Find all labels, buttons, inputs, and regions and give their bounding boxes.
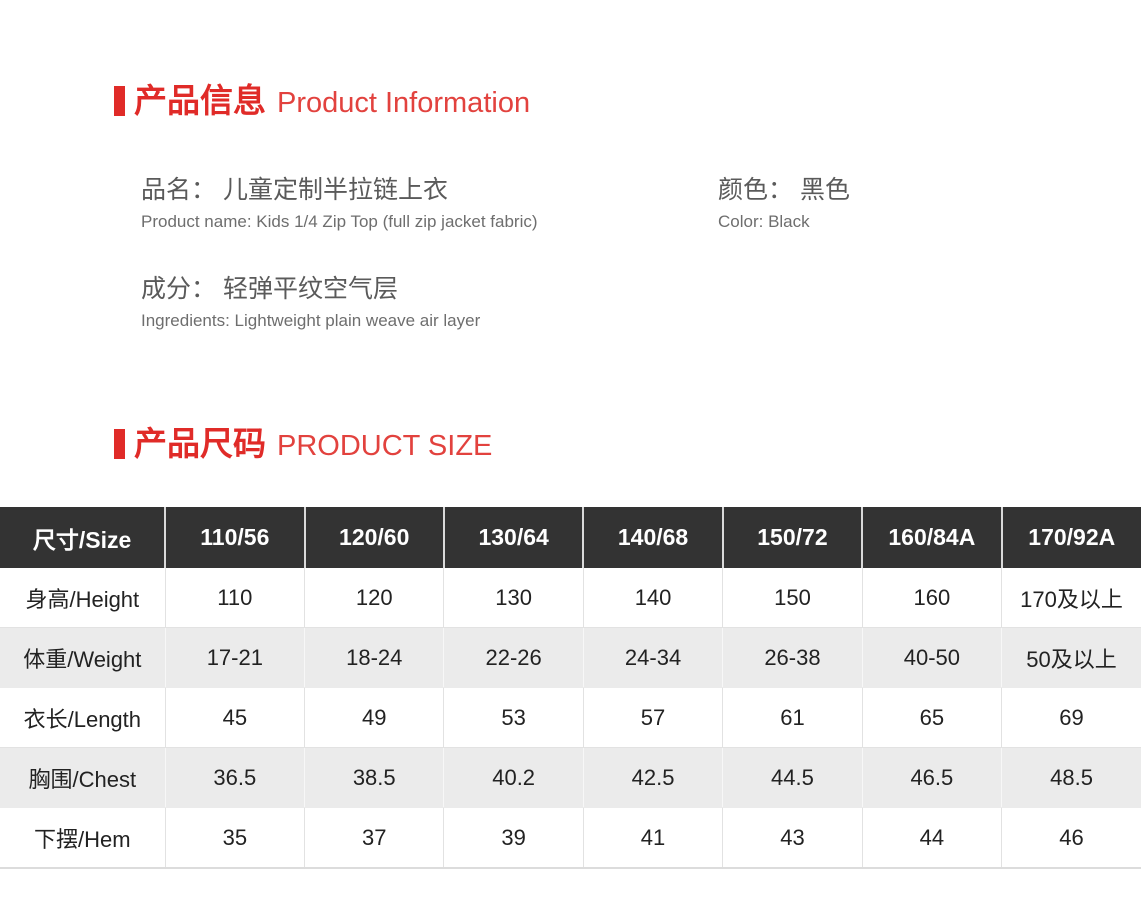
size-column-header: 170/92A bbox=[1002, 507, 1141, 568]
table-cell: 41 bbox=[583, 808, 722, 869]
table-cell: 48.5 bbox=[1002, 748, 1141, 808]
row-label: 体重/Weight bbox=[0, 628, 165, 688]
table-cell: 120 bbox=[305, 568, 444, 628]
table-cell: 160 bbox=[862, 568, 1001, 628]
table-cell: 65 bbox=[862, 688, 1001, 748]
size-column-header: 110/56 bbox=[165, 507, 304, 568]
size-table-container: 尺寸/Size 110/56120/60130/64140/68150/7216… bbox=[0, 507, 1141, 869]
table-cell: 150 bbox=[723, 568, 862, 628]
section-title-en: PRODUCT SIZE bbox=[277, 432, 492, 461]
table-cell: 45 bbox=[165, 688, 304, 748]
table-row: 衣长/Length45495357616569 bbox=[0, 688, 1141, 748]
table-cell: 43 bbox=[723, 808, 862, 869]
ingredients-en: Ingredients: Lightweight plain weave air… bbox=[141, 311, 480, 331]
table-cell: 50及以上 bbox=[1002, 628, 1141, 688]
size-column-header: 160/84A bbox=[862, 507, 1001, 568]
row-label: 下摆/Hem bbox=[0, 808, 165, 869]
table-cell: 44.5 bbox=[723, 748, 862, 808]
section-title-cn: 产品信息 bbox=[134, 84, 266, 117]
red-accent-bar-icon bbox=[114, 429, 125, 459]
product-name-cn: 品名： 儿童定制半拉链上衣 bbox=[141, 176, 538, 206]
table-cell: 61 bbox=[723, 688, 862, 748]
table-cell: 38.5 bbox=[305, 748, 444, 808]
table-cell: 40.2 bbox=[444, 748, 583, 808]
table-cell: 18-24 bbox=[305, 628, 444, 688]
table-cell: 22-26 bbox=[444, 628, 583, 688]
table-corner-label: 尺寸/Size bbox=[0, 507, 165, 568]
table-cell: 57 bbox=[583, 688, 722, 748]
table-cell: 24-34 bbox=[583, 628, 722, 688]
table-cell: 46.5 bbox=[862, 748, 1001, 808]
table-cell: 42.5 bbox=[583, 748, 722, 808]
section-title-en: Product Information bbox=[277, 89, 530, 118]
section-heading-product-size: 产品尺码 PRODUCT SIZE bbox=[114, 425, 492, 461]
table-cell: 35 bbox=[165, 808, 304, 869]
color-cn: 颜色： 黑色 bbox=[718, 176, 850, 206]
table-row: 下摆/Hem35373941434446 bbox=[0, 808, 1141, 869]
table-cell: 110 bbox=[165, 568, 304, 628]
section-heading-product-information: 产品信息 Product Information bbox=[114, 82, 530, 118]
info-block-product-name: 品名： 儿童定制半拉链上衣 Product name: Kids 1/4 Zip… bbox=[141, 176, 538, 232]
size-column-header: 130/64 bbox=[444, 507, 583, 568]
table-cell: 36.5 bbox=[165, 748, 304, 808]
table-cell: 17-21 bbox=[165, 628, 304, 688]
red-accent-bar-icon bbox=[114, 86, 125, 116]
table-cell: 140 bbox=[583, 568, 722, 628]
ingredients-cn: 成分： 轻弹平纹空气层 bbox=[141, 275, 480, 305]
row-label: 身高/Height bbox=[0, 568, 165, 628]
product-size-table: 尺寸/Size 110/56120/60130/64140/68150/7216… bbox=[0, 507, 1141, 869]
table-row: 胸围/Chest36.538.540.242.544.546.548.5 bbox=[0, 748, 1141, 808]
table-cell: 46 bbox=[1002, 808, 1141, 869]
table-cell: 53 bbox=[444, 688, 583, 748]
row-label: 衣长/Length bbox=[0, 688, 165, 748]
table-row: 身高/Height110120130140150160170及以上 bbox=[0, 568, 1141, 628]
section-title-cn: 产品尺码 bbox=[134, 427, 266, 460]
info-block-ingredients: 成分： 轻弹平纹空气层 Ingredients: Lightweight pla… bbox=[141, 275, 480, 331]
table-row: 体重/Weight17-2118-2422-2624-3426-3840-505… bbox=[0, 628, 1141, 688]
color-en: Color: Black bbox=[718, 212, 850, 232]
size-column-header: 140/68 bbox=[583, 507, 722, 568]
table-cell: 40-50 bbox=[862, 628, 1001, 688]
table-cell: 69 bbox=[1002, 688, 1141, 748]
info-block-color: 颜色： 黑色 Color: Black bbox=[718, 176, 850, 232]
product-name-en: Product name: Kids 1/4 Zip Top (full zip… bbox=[141, 212, 538, 232]
size-column-header: 150/72 bbox=[723, 507, 862, 568]
table-cell: 49 bbox=[305, 688, 444, 748]
table-cell: 37 bbox=[305, 808, 444, 869]
table-cell: 170及以上 bbox=[1002, 568, 1141, 628]
table-cell: 44 bbox=[862, 808, 1001, 869]
table-header-row: 尺寸/Size 110/56120/60130/64140/68150/7216… bbox=[0, 507, 1141, 568]
table-cell: 39 bbox=[444, 808, 583, 869]
row-label: 胸围/Chest bbox=[0, 748, 165, 808]
table-cell: 26-38 bbox=[723, 628, 862, 688]
table-cell: 130 bbox=[444, 568, 583, 628]
size-column-header: 120/60 bbox=[305, 507, 444, 568]
